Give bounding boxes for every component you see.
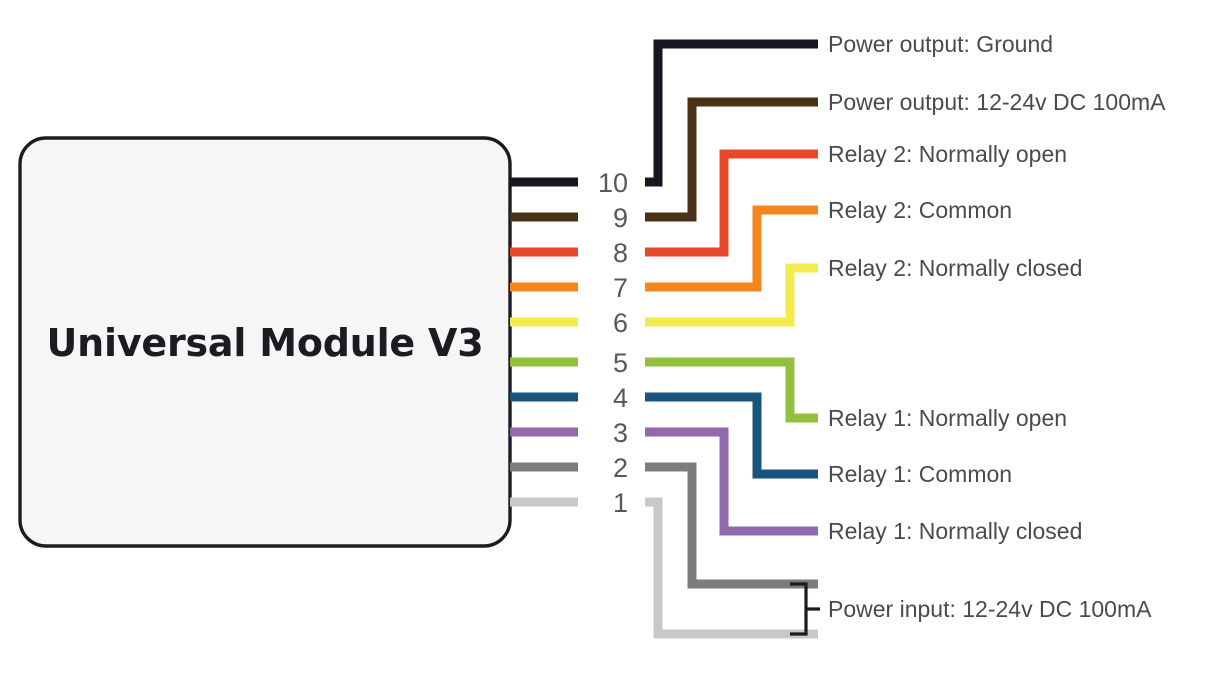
wiring-diagram-canvas: Universal Module V3 10987654321 Power ou… [0, 0, 1221, 683]
wire-run-5 [645, 358, 818, 423]
pin-number-2: 2 [613, 453, 628, 483]
pin-number-4: 4 [613, 383, 628, 413]
pin-number-7: 7 [613, 273, 628, 303]
wire-label-3: Relay 1: Normally closed [828, 518, 1082, 544]
pin-number-5: 5 [613, 348, 628, 378]
pin-number-9: 9 [613, 203, 628, 233]
wire-label-9: Power output: 12-24v DC 100mA [828, 89, 1166, 115]
wire-run-2 [645, 463, 818, 589]
wire-label-power-input: Power input: 12-24v DC 100mA [828, 596, 1152, 622]
wire-label-4: Relay 1: Common [828, 461, 1012, 487]
wire-label-5: Relay 1: Normally open [828, 405, 1067, 431]
wire-5[interactable]: 5 [510, 348, 818, 423]
wire-1[interactable]: 1 [510, 488, 818, 639]
module-title: Universal Module V3 [47, 321, 484, 365]
wiring-diagram: Universal Module V3 10987654321 Power ou… [0, 0, 1221, 683]
wire-10[interactable]: 10 [510, 40, 818, 199]
wire-run-10 [645, 40, 818, 187]
wire-run-9 [645, 98, 818, 222]
pin-number-6: 6 [613, 308, 628, 338]
wire-run-8 [645, 150, 818, 257]
pin-number-3: 3 [613, 418, 628, 448]
pin-number-10: 10 [598, 168, 628, 198]
wire-run-3 [645, 428, 818, 536]
wire-run-1 [645, 498, 818, 639]
wire-labels-layer: Power output: GroundPower output: 12-24v… [828, 31, 1166, 622]
wire-run-6 [645, 264, 818, 327]
power-input-bracket-group [790, 584, 820, 634]
wire-label-10: Power output: Ground [828, 31, 1053, 57]
wire-label-6: Relay 2: Normally closed [828, 255, 1082, 281]
power-input-bracket [790, 584, 820, 634]
wire-label-7: Relay 2: Common [828, 197, 1012, 223]
pin-number-8: 8 [613, 238, 628, 268]
wire-6[interactable]: 6 [510, 264, 818, 339]
wire-label-8: Relay 2: Normally open [828, 141, 1067, 167]
pin-number-1: 1 [613, 488, 628, 518]
wires-layer: 10987654321 [510, 40, 818, 639]
